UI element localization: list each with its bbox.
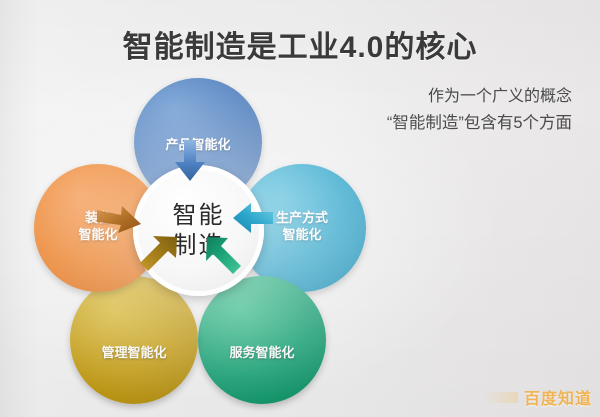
petal-service-intelligence[interactable]: 服务智能化 [198,276,326,404]
petal-management-intelligence[interactable]: 管理智能化 [70,276,198,404]
page-title: 智能制造是工业4.0的核心 [0,22,600,66]
watermark: 百度知道 [484,385,592,409]
subtitle-line-1: 作为一个广义的概念 [387,84,572,110]
hub-label: 智能制造 [173,201,225,261]
slide-canvas: 智能制造是工业4.0的核心 作为一个广义的概念 “智能制造”包含有5个方面 产品… [0,0,600,417]
watermark-text: 百度知道 [524,385,592,409]
hub-and-spoke-diagram: 产品智能化 生产方式智能化 服务智能化 管理智能化 装备智能化 智能制造 [22,78,388,404]
petal-product-label: 产品智能化 [134,136,262,153]
watermark-bar [484,392,518,403]
subtitle-block: 作为一个广义的概念 “智能制造”包含有5个方面 [387,84,572,136]
subtitle-line-2: “智能制造”包含有5个方面 [387,110,572,136]
petal-service-label: 服务智能化 [198,344,326,361]
petal-manage-label: 管理智能化 [70,344,198,361]
hub-circle[interactable]: 智能制造 [133,165,264,296]
